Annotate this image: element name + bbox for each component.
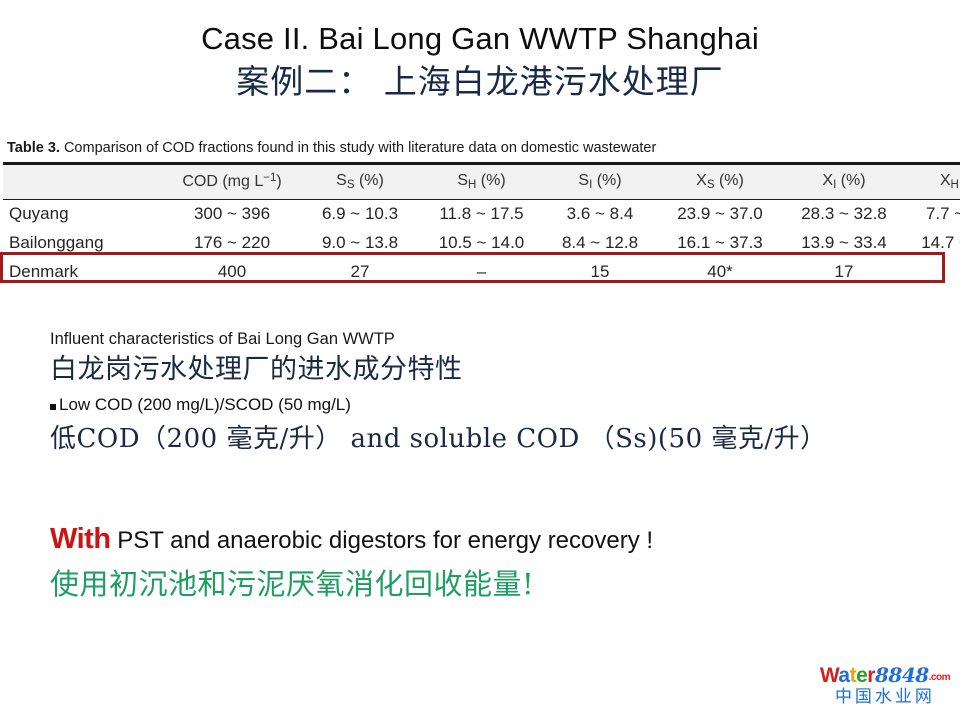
row-label-denmark: Denmark [3,258,163,287]
cell-bailonggang-ss: 9.0 ~ 13.8 [301,229,419,258]
cell-bailonggang-cod: 176 ~ 220 [163,229,301,258]
column-header-si: SI (%) [544,164,656,200]
cell-bailonggang-sh: 10.5 ~ 14.0 [419,229,544,258]
column-header-xs: XS (%) [656,164,784,200]
cell-quyang-xh: 7.7 ~ 10.2 [904,200,960,230]
logo-letter-a: a [838,664,849,687]
cell-bailonggang-xi: 13.9 ~ 33.4 [784,229,904,258]
row-label-quyang: Quyang [3,200,163,230]
table-header-row: COD (mg L−1) SS (%) SH (%) SI (%) XS (%)… [3,164,960,200]
cell-denmark-cod: 400 [163,258,301,287]
column-header-sh: SH (%) [419,164,544,200]
cell-quyang-sh: 11.8 ~ 17.5 [419,200,544,230]
table-caption-label: Table 3. [7,140,60,156]
logo-letter-w: W [820,664,839,687]
cell-denmark-xi: 17 [784,258,904,287]
column-header-cod: COD (mg L−1) [163,164,301,200]
cell-denmark-xs: 40* [656,258,784,287]
column-header-blank [3,164,163,200]
table-caption: Table 3. Comparison of COD fractions fou… [3,140,955,162]
cell-denmark-xh: 8 [904,258,960,287]
row-label-bailonggang: Bailonggang [3,229,163,258]
conclusion-english-rest: PST and anaerobic digestors for energy r… [111,527,654,554]
page-title-english: Case II. Bai Long Gan WWTP Shanghai [0,22,960,57]
table-row: Quyang 300 ~ 396 6.9 ~ 10.3 11.8 ~ 17.5 … [3,200,960,230]
cell-bailonggang-xh: 14.7 ~ 18.9 [904,229,960,258]
cell-quyang-ss: 6.9 ~ 10.3 [301,200,419,230]
square-bullet-icon [50,404,56,410]
column-header-xh: XH (%) [904,164,960,200]
influent-heading-chinese: 白龙岗污水处理厂的进水成分特性 [50,352,950,387]
table-header: COD (mg L−1) SS (%) SH (%) SI (%) XS (%)… [3,164,960,200]
cell-denmark-si: 15 [544,258,656,287]
table-row-highlighted: Bailonggang 176 ~ 220 9.0 ~ 13.8 10.5 ~ … [3,229,960,258]
influent-heading-english: Influent characteristics of Bai Long Gan… [50,328,950,350]
logo-chinese-name: 中国水业网 [820,689,950,706]
cod-fractions-table: COD (mg L−1) SS (%) SH (%) SI (%) XS (%)… [3,162,960,287]
conclusion-chinese-line: 使用初沉池和污泥厌氧消化回收能量! [50,566,534,604]
bullet-item-low-cod: Low COD (200 mg/L)/SCOD (50 mg/L) [50,395,950,415]
watermark-logo: Water8848.com 中国水业网 [820,665,950,706]
conclusion-emphasis-word: With [50,523,111,555]
bullet-item-chinese: 低COD（200 毫克/升） and soluble COD （Ss)(50 毫… [50,423,950,457]
cell-denmark-sh: – [419,258,544,287]
cell-quyang-cod: 300 ~ 396 [163,200,301,230]
logo-number: 8848 [875,663,929,687]
table-body: Quyang 300 ~ 396 6.9 ~ 10.3 11.8 ~ 17.5 … [3,200,960,288]
column-header-ss: SS (%) [301,164,419,200]
conclusion-english-line: With PST and anaerobic digestors for ene… [50,522,653,557]
slide-title-block: Case II. Bai Long Gan WWTP Shanghai 案例二：… [0,0,960,102]
table-row: Denmark 400 27 – 15 40* 17 8 [3,258,960,287]
cell-quyang-xs: 23.9 ~ 37.0 [656,200,784,230]
body-text-block: Influent characteristics of Bai Long Gan… [50,328,950,457]
cell-denmark-ss: 27 [301,258,419,287]
table-figure: Table 3. Comparison of COD fractions fou… [3,140,955,287]
cell-quyang-xi: 28.3 ~ 32.8 [784,200,904,230]
cell-bailonggang-xs: 16.1 ~ 37.3 [656,229,784,258]
logo-wordmark: Water8848.com [820,665,950,686]
table-caption-text: Comparison of COD fractions found in thi… [60,140,656,156]
logo-letter-e: e [856,664,867,687]
cell-bailonggang-si: 8.4 ~ 12.8 [544,229,656,258]
cell-quyang-si: 3.6 ~ 8.4 [544,200,656,230]
logo-letter-r: r [867,664,875,687]
page-title-chinese: 案例二： 上海白龙港污水处理厂 [0,61,960,102]
column-header-xi: XI (%) [784,164,904,200]
bullet-item-label: Low COD (200 mg/L)/SCOD (50 mg/L) [59,395,351,415]
logo-dotcom: .com [929,672,950,683]
